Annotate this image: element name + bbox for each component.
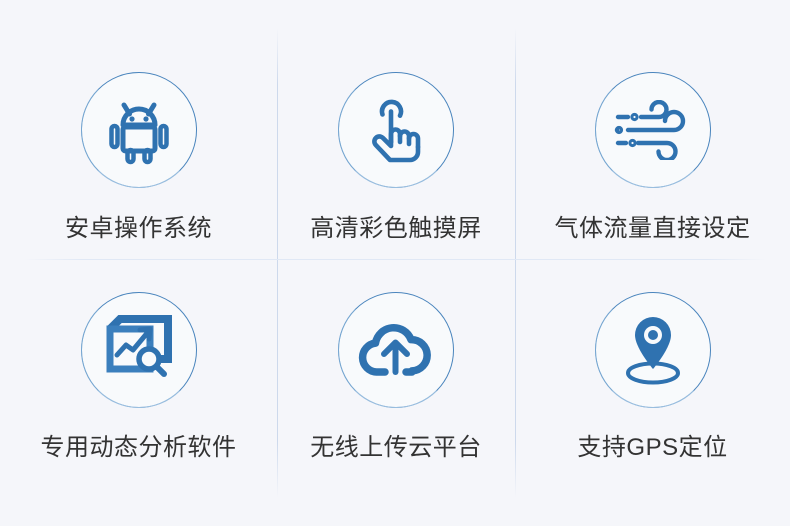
icon-circle	[338, 72, 454, 188]
map-pin-icon	[620, 313, 686, 387]
icon-circle	[338, 292, 454, 408]
icon-circle	[81, 72, 197, 188]
icon-circle	[595, 292, 711, 408]
feature-label: 气体流量直接设定	[555, 215, 751, 244]
feature-cell-dynamic-analysis-software[interactable]: 专用动态分析软件	[0, 259, 277, 526]
feature-cell-android-os[interactable]: 安卓操作系统	[0, 0, 277, 259]
android-robot-icon	[104, 95, 174, 165]
icon-circle	[595, 72, 711, 188]
feature-grid: 安卓操作系统 高清彩色触摸屏	[0, 0, 790, 526]
touch-hand-icon	[361, 94, 431, 166]
chart-search-icon	[104, 315, 174, 385]
feature-label: 支持GPS定位	[577, 434, 727, 463]
wind-airflow-icon	[614, 100, 692, 160]
feature-cell-gas-flow-setting[interactable]: 气体流量直接设定	[515, 0, 790, 259]
icon-circle	[81, 292, 197, 408]
feature-cell-gps-positioning[interactable]: 支持GPS定位	[515, 259, 790, 526]
feature-cell-hd-color-touchscreen[interactable]: 高清彩色触摸屏	[277, 0, 515, 259]
feature-cell-wireless-cloud-upload[interactable]: 无线上传云平台	[277, 259, 515, 526]
feature-label: 高清彩色触摸屏	[310, 215, 482, 244]
cloud-upload-icon	[358, 320, 434, 380]
feature-label: 专用动态分析软件	[41, 434, 237, 463]
feature-label: 无线上传云平台	[310, 434, 482, 463]
feature-label: 安卓操作系统	[65, 215, 212, 244]
